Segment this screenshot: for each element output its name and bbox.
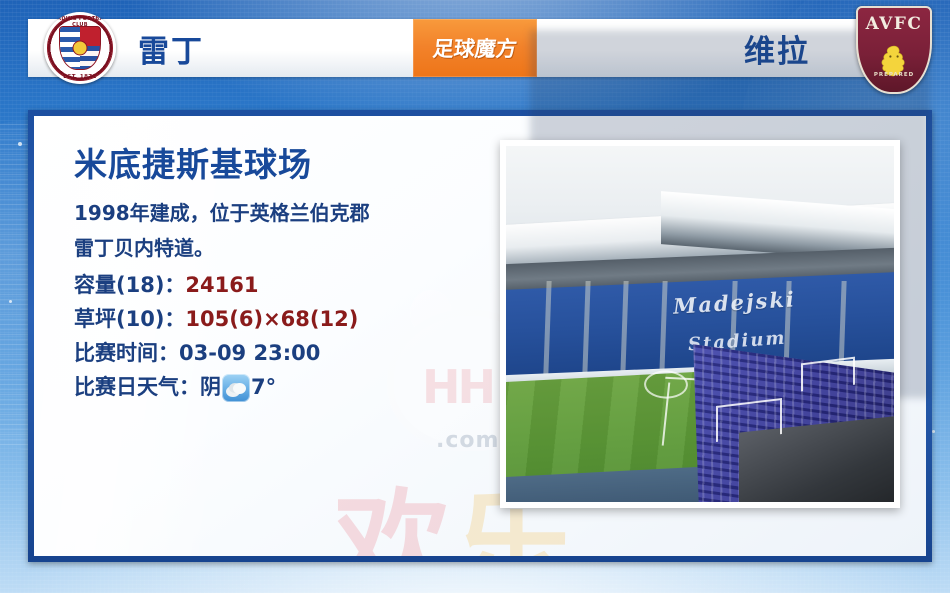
app-root: 雷丁 维拉 足球魔方 READING FOOTBALL CLUB EST. 18… — [0, 0, 950, 593]
aston-villa-crest-icon: AVFC PREPARED — [856, 6, 932, 94]
stadium-description-line-2: 雷丁贝内特道。 — [74, 233, 474, 264]
weather-label: 比赛日天气： — [74, 375, 200, 399]
site-brand-logo-text: 足球魔方 — [431, 33, 518, 63]
stadium-title: 米底捷斯基球场 — [74, 138, 474, 186]
weather-icon-wrap — [221, 374, 251, 402]
match-time-value: 03-09 23:00 — [179, 341, 320, 365]
crest-ring-text-top: READING FOOTBALL CLUB — [44, 16, 116, 28]
background-dot — [932, 430, 935, 433]
crest-motto: PREPARED — [858, 72, 930, 78]
cloud-puff — [233, 383, 246, 394]
capacity-label: 容量(18)： — [74, 273, 185, 297]
crest-initials: AVFC — [858, 14, 930, 34]
background-dot — [9, 300, 12, 303]
weather-condition: 阴 — [200, 375, 221, 399]
pitch-size-row: 草坪(10)：105(6)×68(12) — [74, 302, 474, 336]
stadium-description-line-1: 1998年建成，位于英格兰伯克郡 — [74, 198, 474, 229]
match-weather-row: 比赛日天气：阴7° — [74, 370, 474, 404]
pitch-center-circle — [642, 369, 689, 399]
home-team-name: 雷丁 — [138, 19, 204, 77]
madejski-stadium-photo-frame[interactable]: Madejski Stadium — [500, 140, 900, 508]
capacity-row: 容量(18)：24161 — [74, 268, 474, 302]
match-time-row: 比赛时间：03-09 23:00 — [74, 336, 474, 370]
pitch-size-label: 草坪(10)： — [74, 307, 185, 331]
weather-temperature: 7° — [251, 375, 276, 399]
panel-inner: HH .com 欢乐 米底捷斯基球场 1998年建成，位于英格兰伯克郡 雷丁贝内… — [34, 116, 926, 556]
capacity-value: 24161 — [185, 273, 258, 297]
site-brand-logo[interactable]: 足球魔方 — [413, 19, 537, 77]
reading-fc-crest-icon: READING FOOTBALL CLUB EST. 1871 — [44, 12, 116, 84]
crest-ring-text-bottom: EST. 1871 — [44, 74, 116, 80]
cloudy-icon — [222, 374, 250, 402]
stadium-info-column: 米底捷斯基球场 1998年建成，位于英格兰伯克郡 雷丁贝内特道。 容量(18)：… — [74, 138, 474, 404]
match-time-label: 比赛时间： — [74, 341, 179, 365]
background-dot — [18, 142, 22, 146]
madejski-stadium-photo: Madejski Stadium — [506, 146, 894, 502]
watermark-domain-text: .com — [436, 428, 499, 453]
watermark-char-1: 欢 — [334, 478, 456, 556]
pitch-size-value: 105(6)×68(12) — [185, 307, 358, 331]
crest-shield: AVFC PREPARED — [856, 6, 932, 94]
stadium-info-panel: HH .com 欢乐 米底捷斯基球场 1998年建成，位于英格兰伯克郡 雷丁贝内… — [28, 110, 932, 562]
crest-ball — [73, 41, 88, 56]
